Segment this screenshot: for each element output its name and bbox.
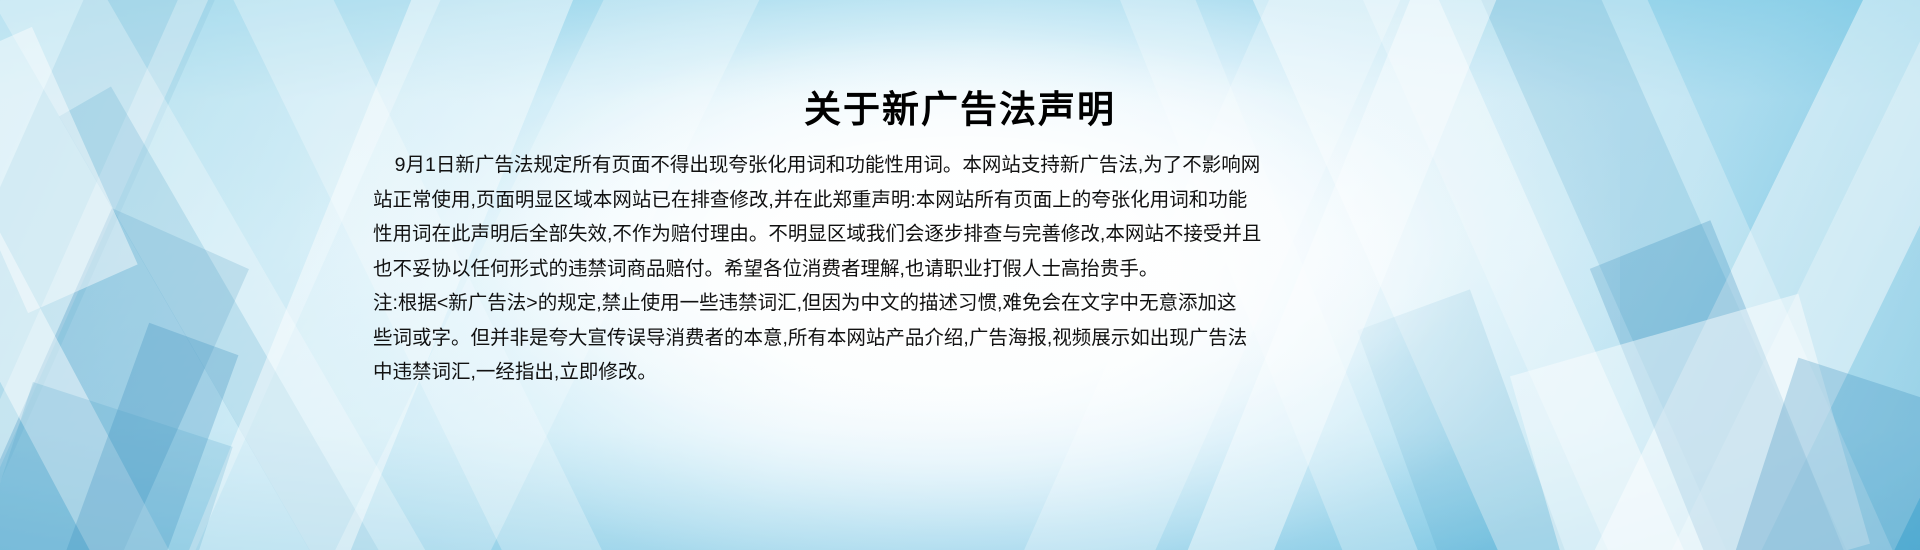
note-paragraph: 注:根据<新广告法>的规定,禁止使用一些违禁词汇,但因为中文的描述习惯,难免会在…: [373, 286, 1179, 390]
note-line: 注:根据<新广告法>的规定,禁止使用一些违禁词汇,但因为中文的描述习惯,难免会在…: [373, 286, 1179, 321]
note-line: 中违禁词汇,一经指出,立即修改。: [373, 355, 1179, 390]
statement-paragraph: 9月1日新广告法规定所有页面不得出现夸张化用词和功能性用词。本网站支持新广告法,…: [373, 148, 1179, 286]
advertising-law-statement-banner: 关于新广告法声明 9月1日新广告法规定所有页面不得出现夸张化用词和功能性用词。本…: [0, 0, 1920, 550]
statement-body: 9月1日新广告法规定所有页面不得出现夸张化用词和功能性用词。本网站支持新广告法,…: [373, 148, 1179, 390]
statement-line: 9月1日新广告法规定所有页面不得出现夸张化用词和功能性用词。本网站支持新广告法,…: [373, 148, 1179, 183]
statement-line: 站正常使用,页面明显区域本网站已在排查修改,并在此郑重声明:本网站所有页面上的夸…: [373, 183, 1179, 218]
statement-content: 关于新广告法声明 9月1日新广告法规定所有页面不得出现夸张化用词和功能性用词。本…: [0, 0, 1920, 550]
statement-line: 也不妥协以任何形式的违禁词商品赔付。希望各位消费者理解,也请职业打假人士高抬贵手…: [373, 252, 1179, 287]
page-title: 关于新广告法声明: [0, 88, 1920, 132]
note-line: 些词或字。但并非是夸大宣传误导消费者的本意,所有本网站产品介绍,广告海报,视频展…: [373, 321, 1179, 356]
statement-line: 性用词在此声明后全部失效,不作为赔付理由。不明显区域我们会逐步排查与完善修改,本…: [373, 217, 1179, 252]
